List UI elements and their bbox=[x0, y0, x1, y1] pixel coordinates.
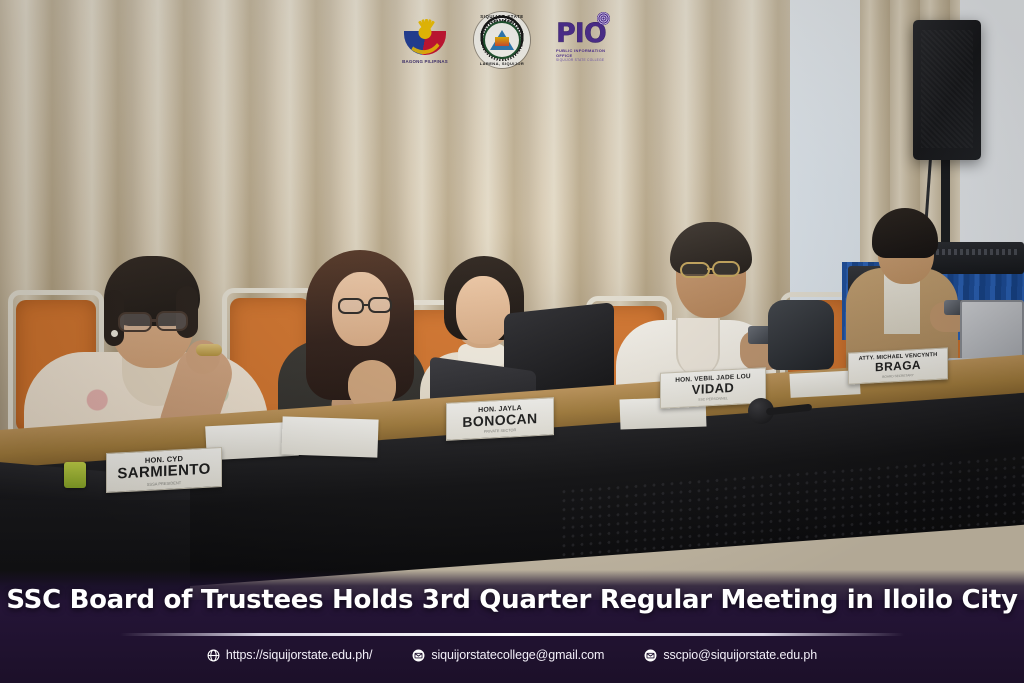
envelope-icon bbox=[644, 649, 657, 662]
eyeglasses-2-bridge bbox=[362, 304, 369, 306]
contact-email-primary[interactable]: siquijorstatecollege@gmail.com bbox=[412, 648, 604, 662]
contact-row: https://siquijorstate.edu.ph/ siquijorst… bbox=[0, 648, 1024, 662]
caption-title: SSC Board of Trustees Holds 3rd Quarter … bbox=[0, 585, 1024, 615]
header-logo-strip: BAGONG PILIPINAS SIQUIJOR STATE COLLEGE … bbox=[0, 0, 1024, 80]
pio-logo: PIO PUBLIC INFORMATION OFFICE SIQUIJOR S… bbox=[556, 20, 622, 60]
backpack bbox=[768, 300, 834, 370]
meeting-photograph: HON. CYD SARMIENTO SSSA PRESIDENT HON. J… bbox=[0, 0, 1024, 600]
contact-email-pio[interactable]: sscpio@siquijorstate.edu.ph bbox=[644, 648, 817, 662]
sunglasses-left-lens bbox=[680, 262, 710, 278]
lightbulb-icon bbox=[597, 12, 610, 25]
seal-inner-circle bbox=[483, 21, 521, 59]
face-bonocan bbox=[456, 276, 510, 344]
pearl-earring bbox=[111, 330, 118, 337]
barong-placket bbox=[676, 318, 720, 376]
contact-website[interactable]: https://siquijorstate.edu.ph/ bbox=[207, 648, 373, 662]
website-url-text: https://siquijorstate.edu.ph/ bbox=[226, 648, 373, 662]
eyeglasses-2-left bbox=[338, 298, 364, 314]
email-primary-text: siquijorstatecollege@gmail.com bbox=[431, 648, 604, 662]
screenshot-root: HON. CYD SARMIENTO SSSA PRESIDENT HON. J… bbox=[0, 0, 1024, 683]
bagong-pilipinas-logo: BAGONG PILIPINAS bbox=[402, 17, 448, 64]
seal-triangle bbox=[490, 30, 514, 50]
pio-caption-secondary: SIQUIJOR STATE COLLEGE bbox=[556, 58, 622, 62]
bagong-pilipinas-caption: BAGONG PILIPINAS bbox=[402, 59, 448, 64]
eyeglasses-right-lens bbox=[156, 311, 188, 331]
seal-text-bottom: LARENA, SIQUIJOR bbox=[474, 61, 530, 66]
green-jar bbox=[64, 462, 86, 488]
pio-caption: PUBLIC INFORMATION OFFICE bbox=[556, 48, 622, 58]
pio-wordmark: PIO bbox=[556, 20, 622, 47]
wristwatch bbox=[196, 344, 222, 356]
eyeglasses-2-right bbox=[368, 297, 392, 313]
sunglasses-right-lens bbox=[712, 261, 740, 277]
eyeglasses-bridge bbox=[150, 319, 158, 322]
siquijor-state-college-seal: SIQUIJOR STATE COLLEGE LARENA, SIQUIJOR bbox=[474, 12, 530, 68]
envelope-icon bbox=[412, 649, 425, 662]
nameplate-braga: ATTY. MICHAEL VENCYNTH BRAGA BOARD SECRE… bbox=[848, 347, 948, 384]
college-seal-mark: SIQUIJOR STATE COLLEGE LARENA, SIQUIJOR bbox=[474, 12, 530, 68]
sunglasses-bridge bbox=[707, 268, 714, 270]
nameplate-sarmiento: HON. CYD SARMIENTO SSSA PRESIDENT bbox=[106, 447, 222, 493]
email-pio-text: sscpio@siquijorstate.edu.ph bbox=[663, 648, 817, 662]
bagong-pilipinas-mark bbox=[402, 17, 448, 57]
globe-icon bbox=[207, 649, 220, 662]
pio-mark: PIO PUBLIC INFORMATION OFFICE SIQUIJOR S… bbox=[556, 20, 622, 60]
caption-divider-rule bbox=[120, 633, 904, 636]
sun-center bbox=[419, 26, 432, 39]
document-stack-2 bbox=[281, 416, 378, 457]
laptop-screen bbox=[960, 300, 1024, 362]
eyeglasses-left-lens bbox=[118, 312, 152, 332]
nameplate-bonocan: HON. JAYLA BONOCAN PRIVATE SECTOR bbox=[446, 397, 554, 441]
